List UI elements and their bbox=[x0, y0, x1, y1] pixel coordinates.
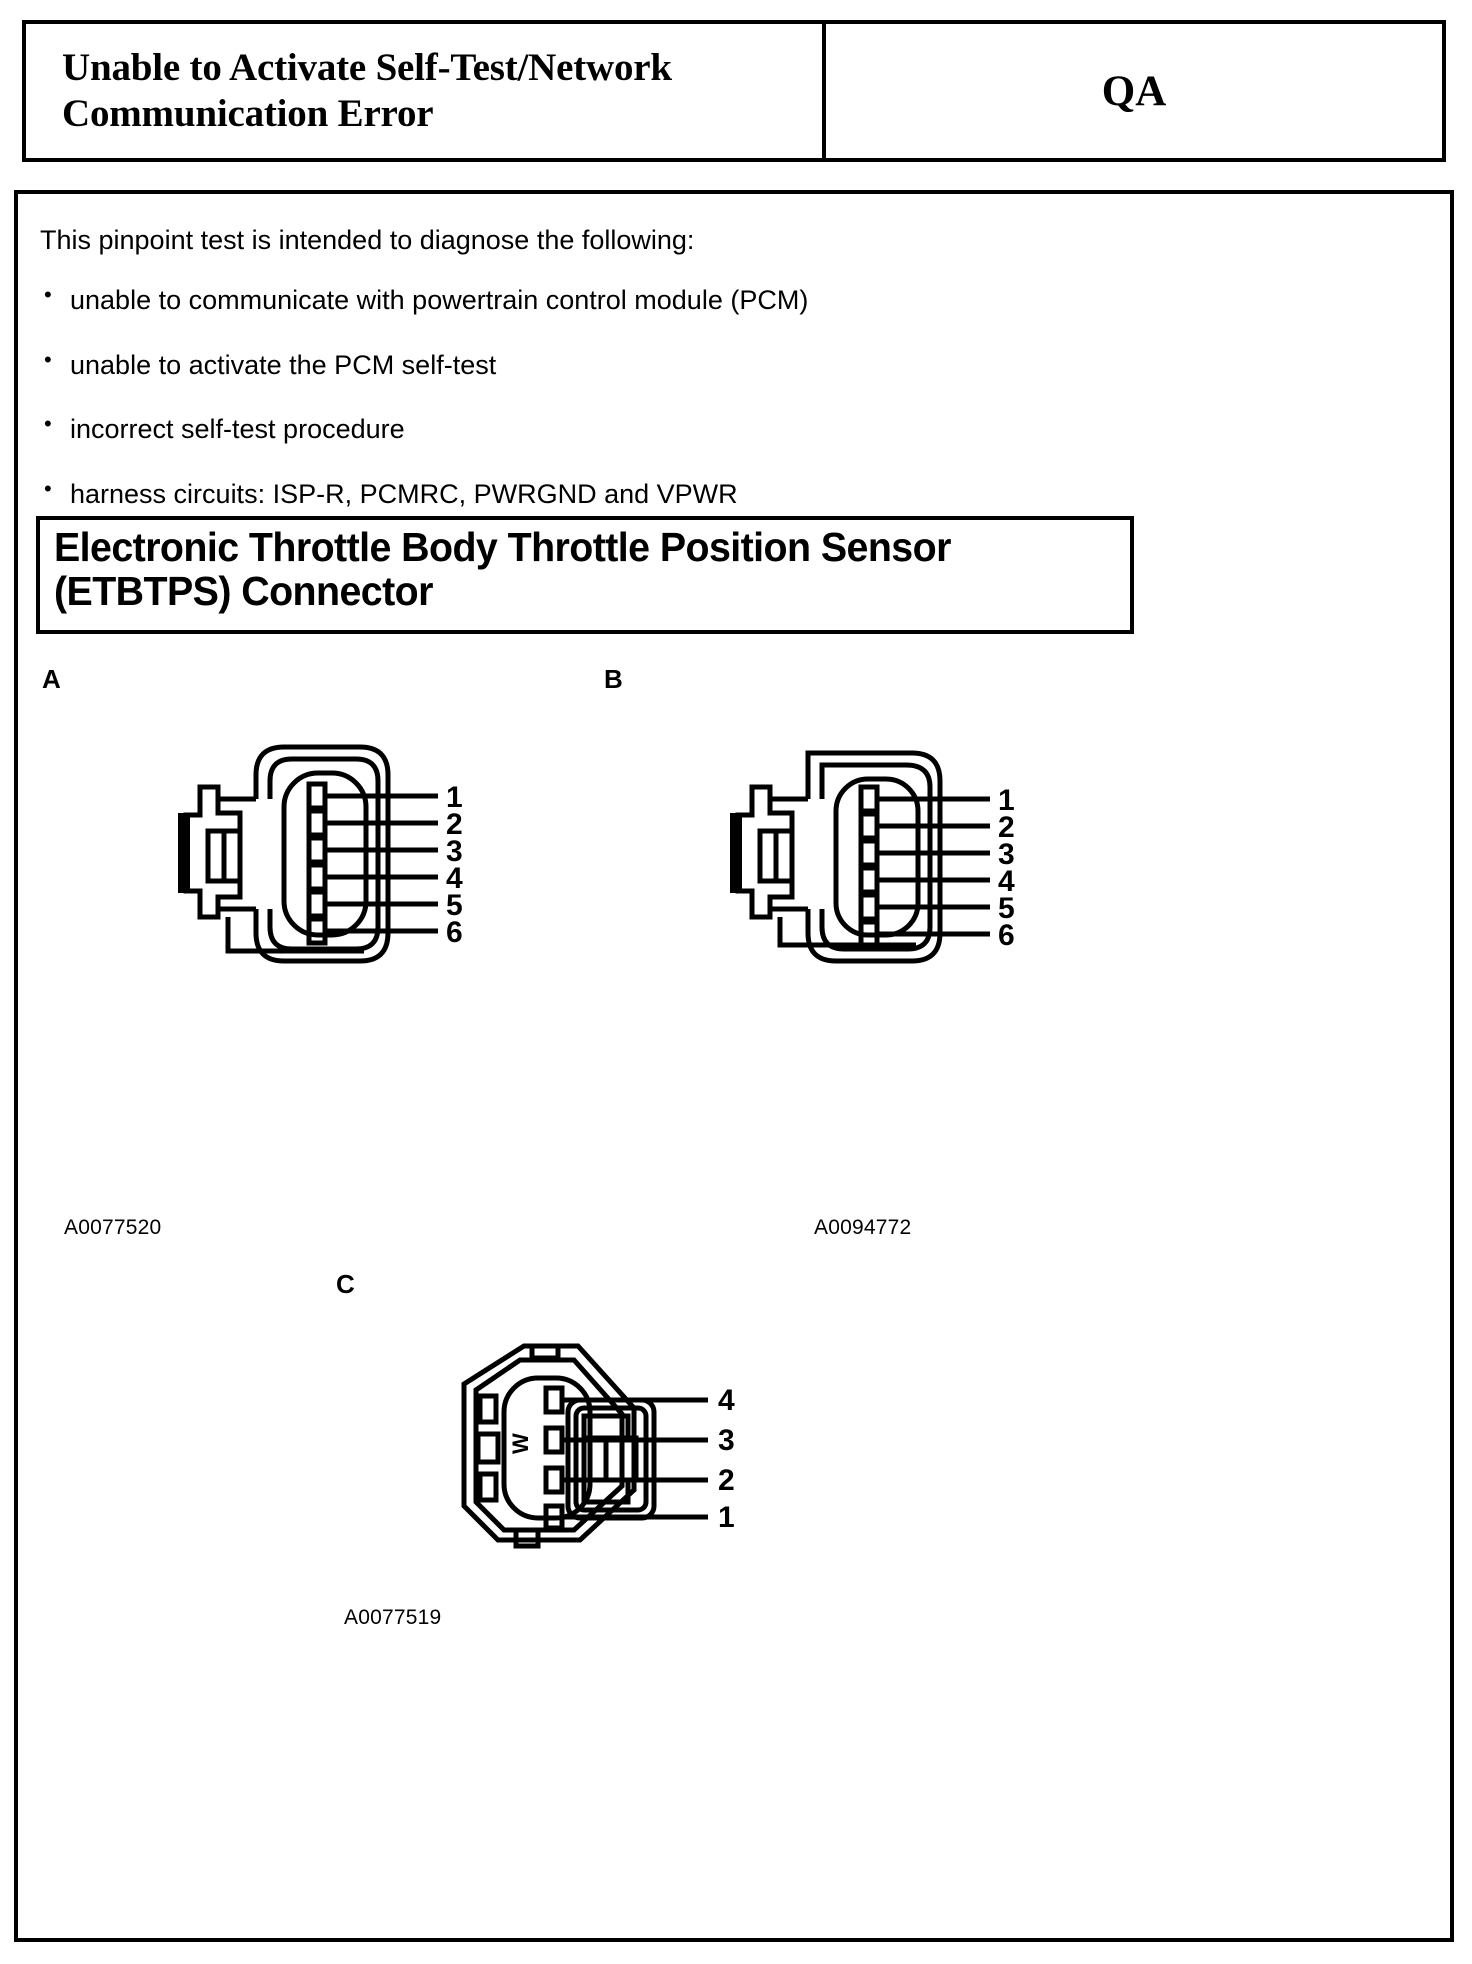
pin-number: 2 bbox=[718, 1466, 735, 1496]
connector-diagram-c: W bbox=[458, 1334, 708, 1554]
figure-code-b: A0094772 bbox=[814, 1216, 911, 1240]
connector-b-pin-numbers: 1 2 3 4 5 6 bbox=[998, 739, 1058, 969]
figure-code-c: A0077519 bbox=[344, 1606, 441, 1630]
pin-number: 6 bbox=[998, 921, 1015, 951]
pin-number: 3 bbox=[718, 1426, 735, 1456]
figure-label-c: C bbox=[336, 1269, 355, 1300]
figure-label-b: B bbox=[604, 664, 623, 695]
connector-diagram-b bbox=[730, 739, 990, 969]
connector-a-grip bbox=[178, 813, 190, 893]
figure-label-a: A bbox=[42, 664, 61, 695]
pin-number: 4 bbox=[718, 1386, 735, 1416]
connector-b-grip bbox=[730, 813, 742, 893]
connector-a-pin-numbers: 1 2 3 4 5 6 bbox=[446, 739, 506, 969]
pin-number: 6 bbox=[446, 918, 463, 948]
connector-diagram-a bbox=[178, 739, 438, 969]
figure-code-a: A0077520 bbox=[64, 1216, 161, 1240]
page-title-line-1: Unable to Activate Self-Test/Network bbox=[62, 46, 672, 89]
page-title-line-2: Communication Error bbox=[62, 92, 433, 135]
connector-b-svg bbox=[730, 739, 990, 969]
connector-a-svg bbox=[178, 739, 438, 969]
section-code-badge: QA bbox=[1102, 67, 1167, 116]
connector-c-keying-mark: W bbox=[508, 1433, 533, 1454]
connector-diagram-area: A bbox=[18, 194, 1450, 1938]
header-title-cell: Unable to Activate Self-Test/Network Com… bbox=[26, 24, 826, 158]
page-header-table: Unable to Activate Self-Test/Network Com… bbox=[22, 20, 1446, 162]
header-code-cell: QA bbox=[826, 24, 1442, 158]
connector-c-pin-numbers: 4 3 2 1 bbox=[718, 1334, 778, 1554]
pin-number: 1 bbox=[718, 1503, 735, 1533]
page-title: Unable to Activate Self-Test/Network Com… bbox=[62, 45, 672, 137]
service-manual-page: Unable to Activate Self-Test/Network Com… bbox=[0, 0, 1472, 1964]
connector-c-svg: W bbox=[458, 1334, 708, 1554]
page-body-box: This pinpoint test is intended to diagno… bbox=[14, 190, 1454, 1942]
